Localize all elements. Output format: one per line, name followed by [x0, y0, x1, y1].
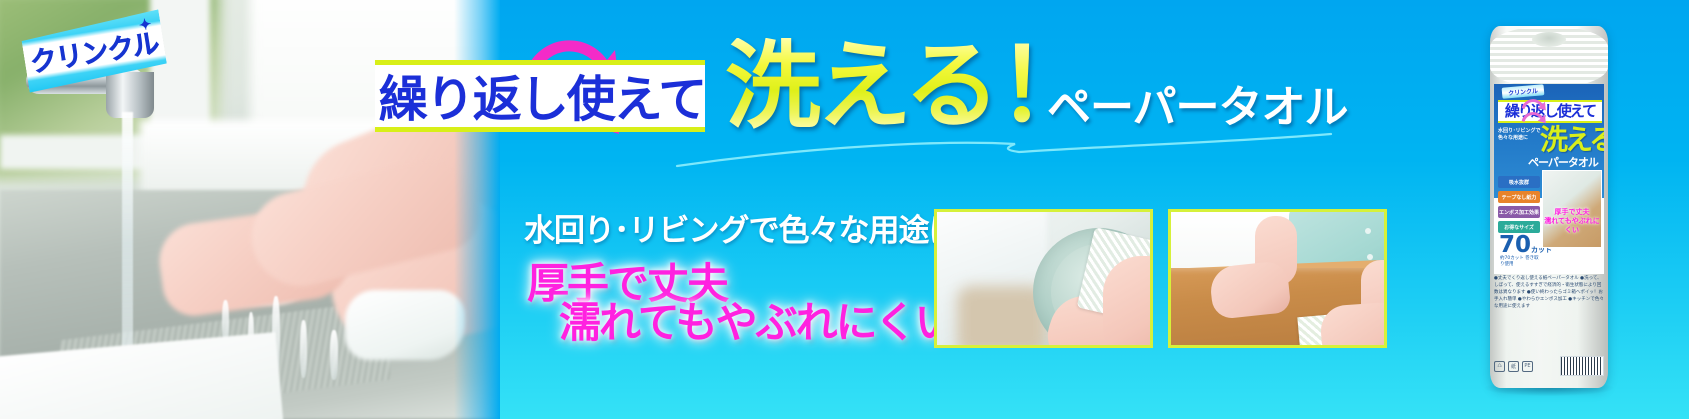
package-footer: ♺ 紙 PE: [1494, 346, 1604, 386]
recycle-mark-icon: ♺: [1494, 361, 1505, 372]
package-photo-caption-line1: 厚手で丈夫: [1542, 208, 1602, 217]
package-highlight-text: 洗える: [1540, 126, 1604, 154]
subcopy-uses: 水回り･リビングで色々な用途に: [524, 205, 959, 250]
package-photo-caption-line2: 濡れてもやぶれにくい: [1542, 217, 1602, 235]
shirt-button: [1365, 228, 1371, 234]
headline-highlight-text: 洗える: [725, 38, 995, 134]
shirt-button: [1367, 254, 1373, 260]
plastic-mark-icon: PE: [1522, 361, 1533, 372]
sparkle-icon: ✦: [138, 15, 153, 35]
package-label: クリンクル 繰り返し使えて 水回り･リビングで 色々な用途に 洗える ペーパータ…: [1494, 84, 1604, 274]
package-count-note: 約70カット 巻き取り使用: [1500, 256, 1542, 268]
package-feature-tabs: 吸水抜群 テープなし紙力 エンボス加工効果 お得なサイズ: [1498, 176, 1540, 236]
package-photo-caption: 厚手で丈夫 濡れてもやぶれにくい: [1542, 208, 1602, 228]
feature-tab: エンボス加工効果: [1498, 206, 1540, 218]
package-description: ●丈夫でくり返し使える紙ペーパータオル ●洗って、しぼって、使えるすすぎで経済的…: [1494, 276, 1604, 311]
package-use-copy: 水回り･リビングで 色々な用途に: [1498, 128, 1542, 142]
headline-boxed-text: 繰り返し使えて: [383, 62, 701, 128]
package-product-type: ペーパータオル: [1528, 154, 1598, 170]
package-roll-core: [1532, 32, 1566, 47]
water-drip: [300, 320, 307, 378]
feature-tab: 吸水抜群: [1498, 176, 1540, 188]
product-package: クリンクル 繰り返し使えて 水回り･リビングで 色々な用途に 洗える ペーパータ…: [1490, 26, 1608, 388]
usecase-photo-wiping-table: [1168, 209, 1387, 348]
package-sheet-count-number: 70: [1499, 232, 1531, 258]
hand-wiping: [1103, 256, 1153, 348]
barcode: [1560, 356, 1604, 376]
usecase-photo-wiping-plate: [934, 209, 1153, 348]
paper-mark-icon: 紙: [1508, 361, 1519, 372]
paper-towel-wet: [345, 290, 465, 360]
product-banner: クリンクル ✦ 繰り返し使えて 洗える ！ ペーパータオル 水回り･リビングで色…: [0, 0, 1689, 419]
water-drip: [330, 330, 338, 380]
headline-product-type: ペーパータオル: [1047, 86, 1348, 130]
headline: 繰り返し使えて 洗える ！ ペーパータオル: [375, 46, 1355, 146]
subcopy-benefit-line2: 濡れてもやぶれにくい: [559, 302, 955, 344]
feature-tab: テープなし紙力: [1498, 191, 1540, 203]
package-roll-body: クリンクル 繰り返し使えて 水回り･リビングで 色々な用途に 洗える ペーパータ…: [1490, 26, 1608, 388]
package-headline-boxed: 繰り返し使えて: [1498, 100, 1602, 123]
package-recycle-arrows-icon: [1516, 96, 1550, 130]
